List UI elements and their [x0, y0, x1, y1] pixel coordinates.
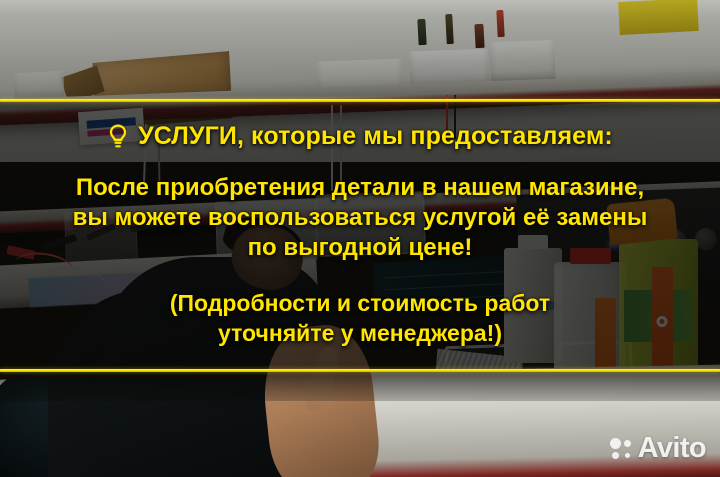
background-photo	[0, 0, 720, 477]
bottle-cap	[570, 248, 610, 264]
yellow-product-box	[618, 0, 699, 35]
small-bottle	[417, 19, 426, 45]
spray-trigger	[606, 197, 678, 245]
small-bottle	[475, 24, 485, 48]
divider-rule-bottom	[0, 369, 720, 372]
divider-rule-top	[0, 99, 720, 102]
brand-mark-icon	[657, 316, 668, 327]
hanging-cable	[340, 105, 342, 197]
forearm	[300, 344, 341, 414]
product-label	[78, 107, 145, 145]
technician-figure	[115, 219, 533, 477]
hanging-cable	[331, 105, 333, 191]
control-dial	[695, 228, 718, 251]
small-bottle	[496, 9, 504, 36]
service-banner: УСЛУГИ, которые мы предоставляем: После …	[0, 0, 720, 477]
storage-bin	[489, 39, 555, 82]
